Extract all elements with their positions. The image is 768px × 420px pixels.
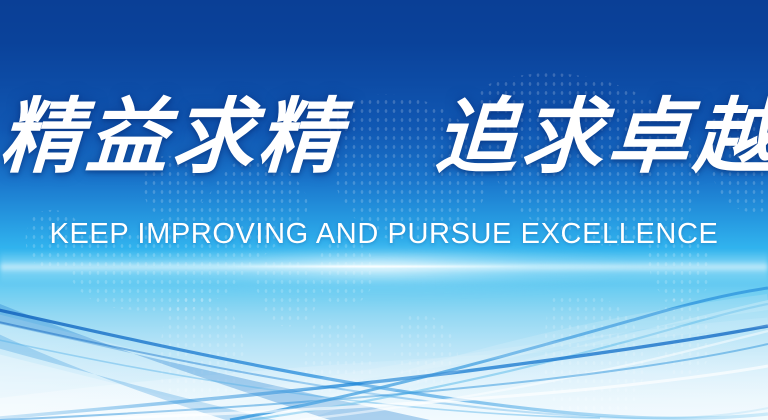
- headline-chinese: 精益求精 追求卓越: [0, 86, 768, 190]
- ribbon-graphics: [0, 0, 768, 420]
- headline-part-1: 精益求精: [0, 90, 347, 185]
- promo-banner: 精益求精 追求卓越 KEEP IMPROVING AND PURSUE EXCE…: [0, 0, 768, 420]
- headline-part-2: 追求卓越: [433, 90, 768, 185]
- subline-english: KEEP IMPROVING AND PURSUE EXCELLENCE: [0, 218, 768, 250]
